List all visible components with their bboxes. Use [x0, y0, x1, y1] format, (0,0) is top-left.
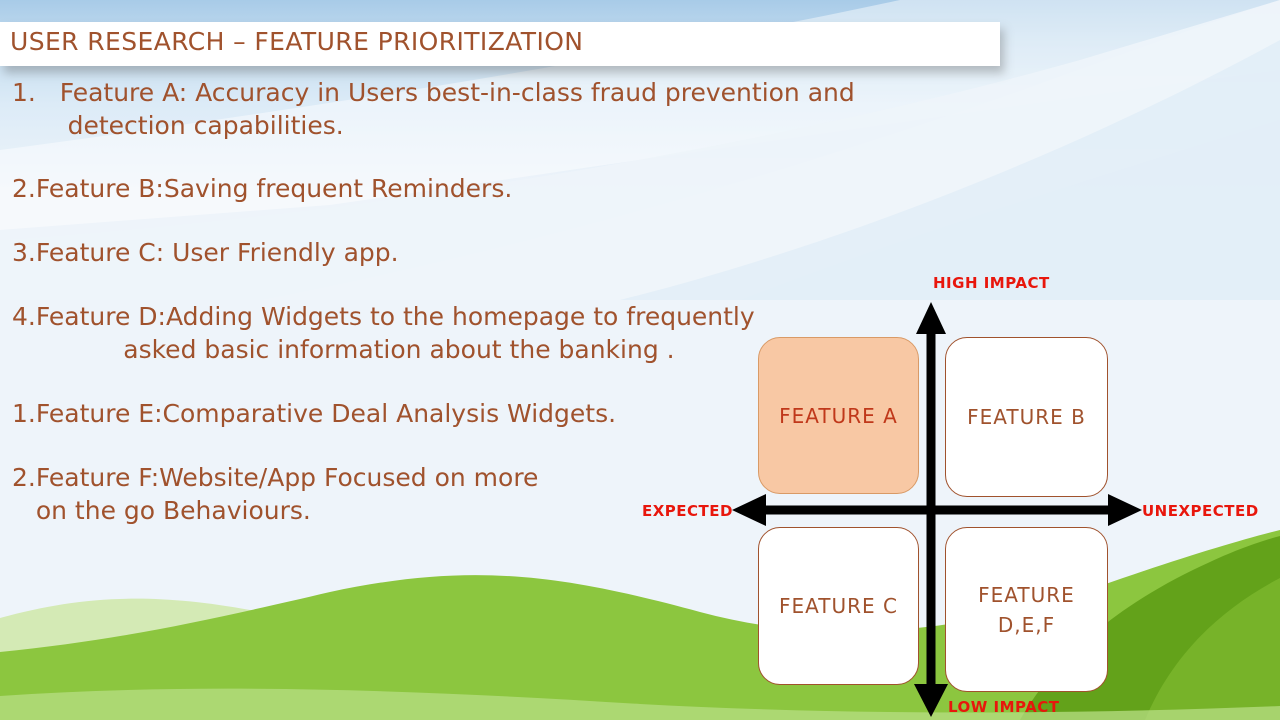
axis-label-expected: EXPECTED [642, 502, 733, 520]
page-title: USER RESEARCH – FEATURE PRIORITIZATION [10, 27, 990, 56]
list-item: 1.Feature E:Comparative Deal Analysis Wi… [12, 397, 616, 430]
impact-expectation-matrix: HIGH IMPACT LOW IMPACT EXPECTED UNEXPECT… [630, 262, 1280, 720]
list-item: 3.Feature C: User Friendly app. [12, 236, 399, 269]
quadrant-box-feature-c[interactable]: FEATURE C [758, 527, 919, 685]
list-item: 2.Feature B:Saving frequent Reminders. [12, 172, 512, 205]
list-item: 2.Feature F:Website/App Focused on more … [12, 461, 538, 527]
axis-label-low-impact: LOW IMPACT [948, 698, 1060, 716]
slide-canvas: USER RESEARCH – FEATURE PRIORITIZATION 1… [0, 0, 1280, 720]
quadrant-box-feature-def[interactable]: FEATURE D,E,F [945, 527, 1108, 692]
horizontal-axis-arrow [732, 494, 1142, 526]
quadrant-box-feature-a[interactable]: FEATURE A [758, 337, 919, 494]
axis-label-unexpected: UNEXPECTED [1142, 502, 1259, 520]
list-item: 1. Feature A: Accuracy in Users best-in-… [12, 76, 855, 142]
quadrant-box-feature-b[interactable]: FEATURE B [945, 337, 1108, 497]
axis-label-high-impact: HIGH IMPACT [933, 274, 1050, 292]
